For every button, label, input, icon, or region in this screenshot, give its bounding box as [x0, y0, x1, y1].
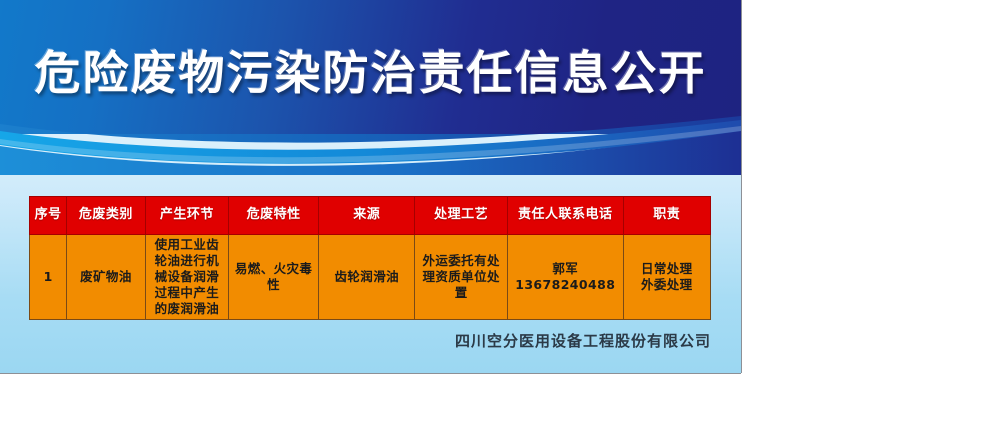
hazardous-waste-table: 序号 危废类别 产生环节 危废特性 来源 处理工艺 责任人联系电话 职责 1 废… [29, 196, 711, 320]
contact-phone-number: 13678240488 [511, 277, 620, 293]
column-header-source: 来源 [319, 197, 415, 235]
column-header-stage: 产生环节 [145, 197, 229, 235]
cell-category: 废矿物油 [67, 235, 145, 320]
duty-line-2: 外委处理 [627, 277, 707, 293]
duty-line-1: 日常处理 [627, 261, 707, 277]
column-header-property: 危废特性 [229, 197, 319, 235]
screenshot-canvas: 危险废物污染防治责任信息公开 序号 危废类别 产生环节 危废特性 来源 处理工艺 [0, 0, 1000, 442]
column-header-process: 处理工艺 [415, 197, 508, 235]
information-disclosure-poster: 危险废物污染防治责任信息公开 序号 危废类别 产生环节 危废特性 来源 处理工艺 [0, 0, 741, 373]
cell-index: 1 [30, 235, 67, 320]
company-name: 四川空分医用设备工程股份有限公司 [0, 330, 711, 351]
poster-header: 危险废物污染防治责任信息公开 [0, 0, 741, 175]
contact-person-name: 郭军 [511, 261, 620, 277]
column-header-index: 序号 [30, 197, 67, 235]
cell-property: 易燃、火灾毒性 [229, 235, 319, 320]
column-header-contact: 责任人联系电话 [507, 197, 623, 235]
cell-stage: 使用工业齿轮油进行机械设备润滑过程中产生的废润滑油 [145, 235, 229, 320]
column-header-category: 危废类别 [67, 197, 145, 235]
cell-source: 齿轮润滑油 [319, 235, 415, 320]
cell-contact: 郭军 13678240488 [507, 235, 623, 320]
cell-duty: 日常处理 外委处理 [623, 235, 710, 320]
table-header-row: 序号 危废类别 产生环节 危废特性 来源 处理工艺 责任人联系电话 职责 [30, 197, 711, 235]
cell-process: 外运委托有处理资质单位处置 [415, 235, 508, 320]
column-header-duty: 职责 [623, 197, 710, 235]
page-title: 危险废物污染防治责任信息公开 [0, 50, 741, 96]
hazardous-waste-table-wrapper: 序号 危废类别 产生环节 危废特性 来源 处理工艺 责任人联系电话 职责 1 废… [29, 196, 711, 320]
table-row: 1 废矿物油 使用工业齿轮油进行机械设备润滑过程中产生的废润滑油 易燃、火灾毒性… [30, 235, 711, 320]
